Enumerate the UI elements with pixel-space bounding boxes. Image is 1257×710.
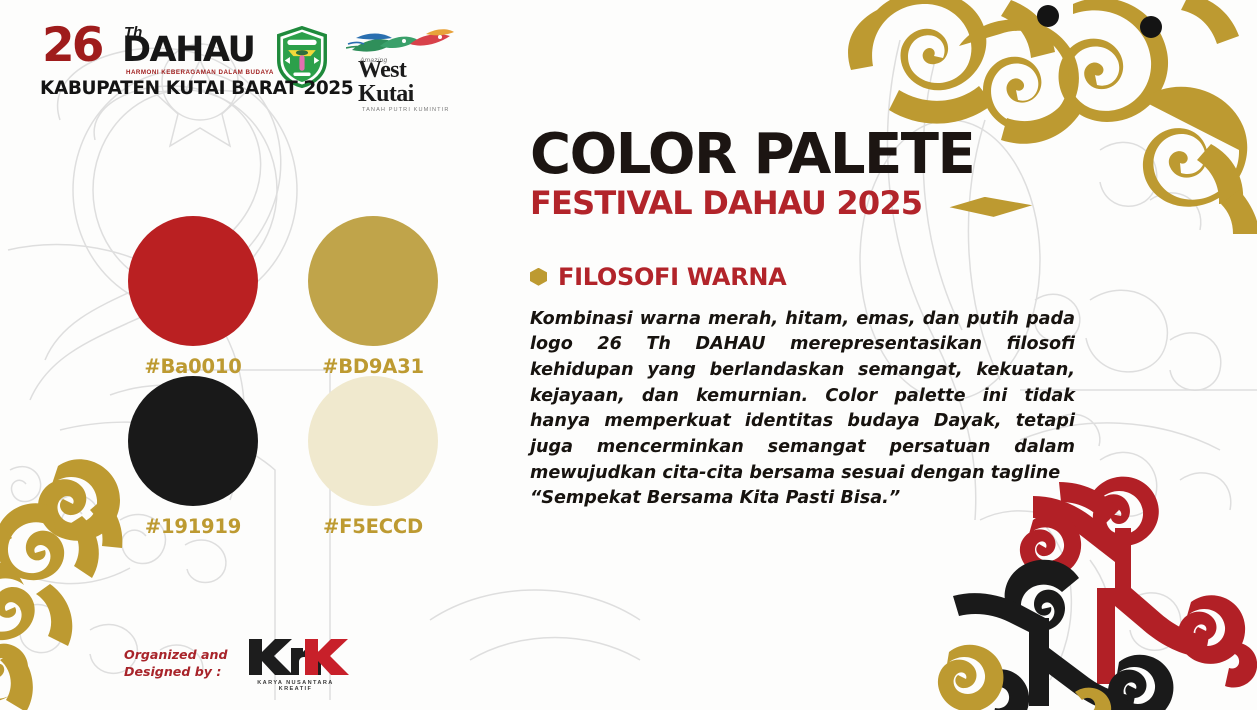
section-title: FILOSOFI WARNA: [558, 263, 786, 291]
gold-diamond-icon: [944, 197, 1032, 217]
color-hex-label-black: #191919: [128, 515, 258, 538]
hexagon-bullet-icon: [530, 268, 547, 286]
dahau-logo-region: KABUPATEN KUTAI BARAT 2025: [40, 78, 258, 99]
west-kutai-logo: Amazing West Kutai TANAH PUTRI KUMINTIR: [346, 28, 456, 113]
knk-agency-logo: KARYA NUSANTARA KREATIF: [241, 635, 349, 692]
dahau-logo-number: 26: [42, 22, 101, 69]
color-hex-label-gold: #BD9A31: [308, 355, 438, 378]
header-logo-bar: 26 Th DAHAU HARMONI KEBERAGAMAN DALAM BU…: [40, 24, 456, 113]
credits-label: Organized and Designed by :: [124, 647, 227, 679]
color-dot-black: [128, 376, 258, 506]
color-dot-red: [128, 216, 258, 346]
knk-wordmark-graphic: [241, 635, 349, 675]
color-hex-label-red: #Ba0010: [128, 355, 258, 378]
color-swatch-gold: #BD9A31: [308, 216, 488, 376]
west-kutai-bird-graphic: [346, 28, 456, 60]
color-dot-gold: [308, 216, 438, 346]
color-swatch-red: #Ba0010: [128, 216, 308, 376]
color-dot-cream: [308, 376, 438, 506]
philosophy-tagline-quote: “Sempekat Bersama Kita Pasti Bisa.”: [530, 486, 1075, 512]
subtitle-row: FESTIVAL DAHAU 2025: [530, 187, 1090, 221]
page-title: COLOR PALETE: [530, 126, 1090, 183]
section-header: FILOSOFI WARNA: [530, 263, 1090, 291]
philosophy-paragraph-main: Kombinasi warna merah, hitam, emas, dan …: [530, 307, 1075, 487]
color-swatch-grid: #Ba0010 #BD9A31 #191919 #F5ECCD: [128, 216, 488, 536]
knk-agency-tagline: KARYA NUSANTARA KREATIF: [241, 680, 349, 692]
credits-block: Organized and Designed by : KARYA NUSANT…: [124, 635, 349, 692]
color-hex-label-cream: #F5ECCD: [308, 515, 438, 538]
west-kutai-wordmark: West Kutai: [346, 58, 456, 106]
page-subtitle: FESTIVAL DAHAU 2025: [530, 187, 922, 221]
color-swatch-black: #191919: [128, 376, 308, 536]
dahau-logo-tagline: HARMONI KEBERAGAMAN DALAM BUDAYA: [126, 69, 274, 76]
west-kutai-script: Amazing: [360, 57, 387, 64]
main-content: COLOR PALETE FESTIVAL DAHAU 2025 FILOSOF…: [530, 126, 1090, 512]
philosophy-paragraph: Kombinasi warna merah, hitam, emas, dan …: [530, 307, 1075, 512]
color-swatch-cream: #F5ECCD: [308, 376, 488, 536]
dahau-anniversary-logo: 26 Th DAHAU HARMONI KEBERAGAMAN DALAM BU…: [40, 24, 258, 99]
color-palette-slide: 26 Th DAHAU HARMONI KEBERAGAMAN DALAM BU…: [0, 0, 1257, 710]
dahau-logo-wordmark: DAHAU: [122, 33, 254, 68]
west-kutai-tagline: TANAH PUTRI KUMINTIR: [346, 107, 456, 113]
